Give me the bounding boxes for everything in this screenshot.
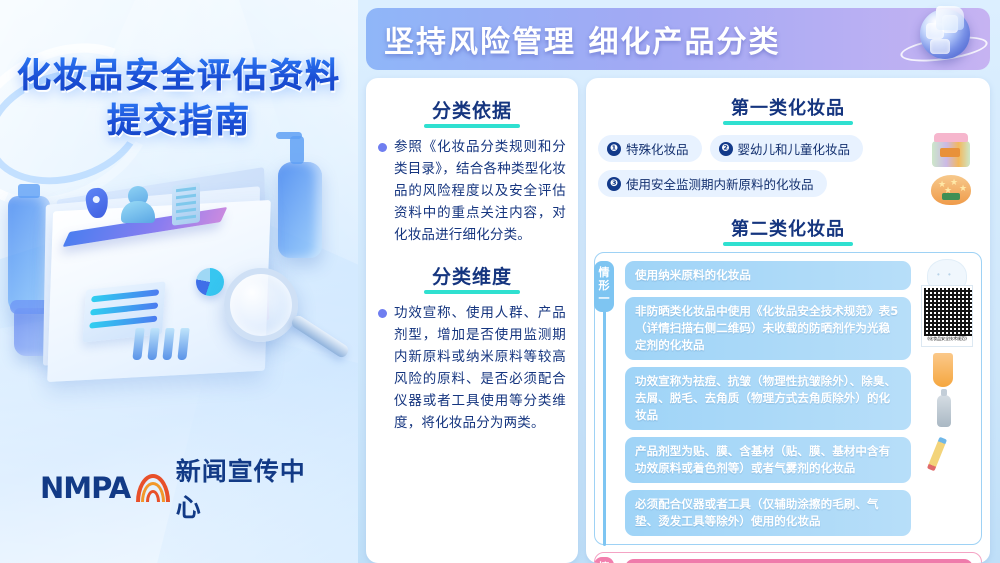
bullet-dot-icon [378, 309, 387, 318]
item-label: 特殊化妆品 [626, 139, 689, 158]
basis-text: 参照《化妆品分类规则和分类目录》，结合各种类型化妆品的风险程度以及安全评估资料中… [394, 136, 566, 246]
content-panel: 坚持风险管理 细化产品分类 分类依据 参照《化妆品分类规则和分类目录》，结合各种… [358, 0, 1000, 563]
qr-caption: 《化妆品安全技术规范》 [924, 336, 970, 342]
document-icon [172, 182, 200, 225]
scenario-one-item[interactable]: 产品剂型为贴、膜、含基材（贴、膜、基材中含有功效原料或着色剂等）或者气雾剂的化妆… [625, 437, 911, 483]
basis-bullet: 参照《化妆品分类规则和分类目录》，结合各种类型化妆品的风险程度以及安全评估资料中… [378, 136, 566, 246]
pouch-jar-icon: ★★ ★★ [930, 171, 972, 205]
pump-bottle-illustration [278, 162, 322, 258]
scenario-one-connector [603, 305, 606, 546]
scenario-two-tab: 情 形 二 [594, 557, 614, 563]
category1-item[interactable]: ❸ 使用安全监测期内新原料的化妆品 [598, 170, 827, 197]
section-title-category2: 第二类化妆品 [594, 215, 982, 244]
left-cover-panel: 化妆品安全评估资料 提交指南 NMPA [0, 0, 358, 563]
category1-icons: ★★ ★★ [930, 133, 976, 205]
scenario-one-box: 情 形 一 使用纳米原料的化妆品 非防晒类化妆品中使用《化妆品安全技术规范》表5… [594, 252, 982, 545]
globe-puzzle-icon [912, 6, 976, 70]
cosmetics-3d-illustration [0, 168, 358, 438]
bullet-dot-icon [378, 143, 387, 152]
logo-subtitle: 新闻宣传中心 [176, 452, 330, 524]
scenario-two-box: 情 形 二 第二类化妆品中除情形一之外的其他普通化妆品 [594, 552, 982, 563]
item-label: 婴幼儿和儿童化妆品 [738, 139, 851, 158]
section-title-category1: 第一类化妆品 [594, 94, 982, 123]
category1-row-2: ❸ 使用安全监测期内新原料的化妆品 [594, 170, 982, 197]
logo-nmpa-text: NMPA [40, 471, 130, 505]
category1-item[interactable]: ❶ 特殊化妆品 [598, 135, 702, 162]
cover-title-line2: 提交指南 [0, 98, 358, 144]
category1-items: ❶ 特殊化妆品 ❷ 婴幼儿和儿童化妆品 ❸ 使用安全监测期内新原料的化妆品 [594, 133, 982, 209]
scenario-one-item[interactable]: 必须配合仪器或者工具（仅辅助涂擦的毛刷、气垫、烫发工具等除外）使用的化妆品 [625, 490, 911, 536]
panel-body: 分类依据 参照《化妆品分类规则和分类目录》，结合各种类型化妆品的风险程度以及安全… [366, 78, 990, 563]
section-title-dimension: 分类维度 [378, 262, 566, 292]
tube-icon [933, 353, 953, 387]
item-number: ❸ [607, 177, 621, 191]
scenario-one-item[interactable]: 功效宣称为祛痘、抗皱（物理性抗皱除外）、除臭、去屑、脱毛、去角质（物理方式去角质… [625, 367, 911, 430]
magnifier-handle-icon [290, 314, 351, 360]
header-title: 坚持风险管理 细化产品分类 [384, 17, 780, 61]
category1-row-1: ❶ 特殊化妆品 ❷ 婴幼儿和儿童化妆品 [594, 135, 982, 162]
infographic-root: 化妆品安全评估资料 提交指南 NMPA [0, 0, 1000, 563]
magnifier-icon [224, 268, 298, 342]
scenario-one-item[interactable]: 使用纳米原料的化妆品 [625, 261, 911, 290]
item-number: ❷ [719, 142, 733, 156]
dimension-bullet: 功效宣称、使用人群、产品剂型，增加是否使用监测期内新原料或纳米原料等较高风险的原… [378, 302, 566, 434]
item-number: ❶ [607, 142, 621, 156]
category1-item[interactable]: ❷ 婴幼儿和儿童化妆品 [710, 135, 864, 162]
cover-title: 化妆品安全评估资料 提交指南 [0, 54, 358, 144]
rainbow-arc-icon [136, 474, 170, 502]
qr-code-icon[interactable]: 《化妆品安全技术规范》 [921, 285, 973, 347]
pen-icon [927, 437, 947, 472]
nmpa-logo: NMPA 新闻宣传中心 [40, 468, 330, 508]
person-icon [121, 201, 155, 223]
section-title-basis: 分类依据 [378, 96, 566, 126]
classification-card: 第一类化妆品 ❶ 特殊化妆品 ❷ 婴幼儿和儿童化妆品 [586, 78, 990, 563]
test-tubes-illustration [134, 328, 198, 364]
criteria-card: 分类依据 参照《化妆品分类规则和分类目录》，结合各种类型化妆品的风险程度以及安全… [366, 78, 578, 563]
scenario-two-item[interactable]: 第二类化妆品中除情形一之外的其他普通化妆品 [625, 559, 973, 563]
bottle-icon [937, 395, 951, 427]
cover-title-line1: 化妆品安全评估资料 [0, 54, 358, 98]
scenario-one-item[interactable]: 非防晒类化妆品中使用《化妆品安全技术规范》表5 （详情扫描右侧二维码）未收载的防… [625, 297, 911, 360]
pie-chart-icon [196, 268, 224, 296]
cream-jar-icon [930, 133, 972, 167]
dimension-text: 功效宣称、使用人群、产品剂型，增加是否使用监测期内新原料或纳米原料等较高风险的原… [394, 302, 566, 434]
panel-header: 坚持风险管理 细化产品分类 [366, 8, 990, 70]
scenario-one-side-icons: 《化妆品安全技术规范》 [917, 261, 975, 536]
item-label: 使用安全监测期内新原料的化妆品 [626, 174, 814, 193]
scenario-one-items: 使用纳米原料的化妆品 非防晒类化妆品中使用《化妆品安全技术规范》表5 （详情扫描… [625, 261, 911, 536]
